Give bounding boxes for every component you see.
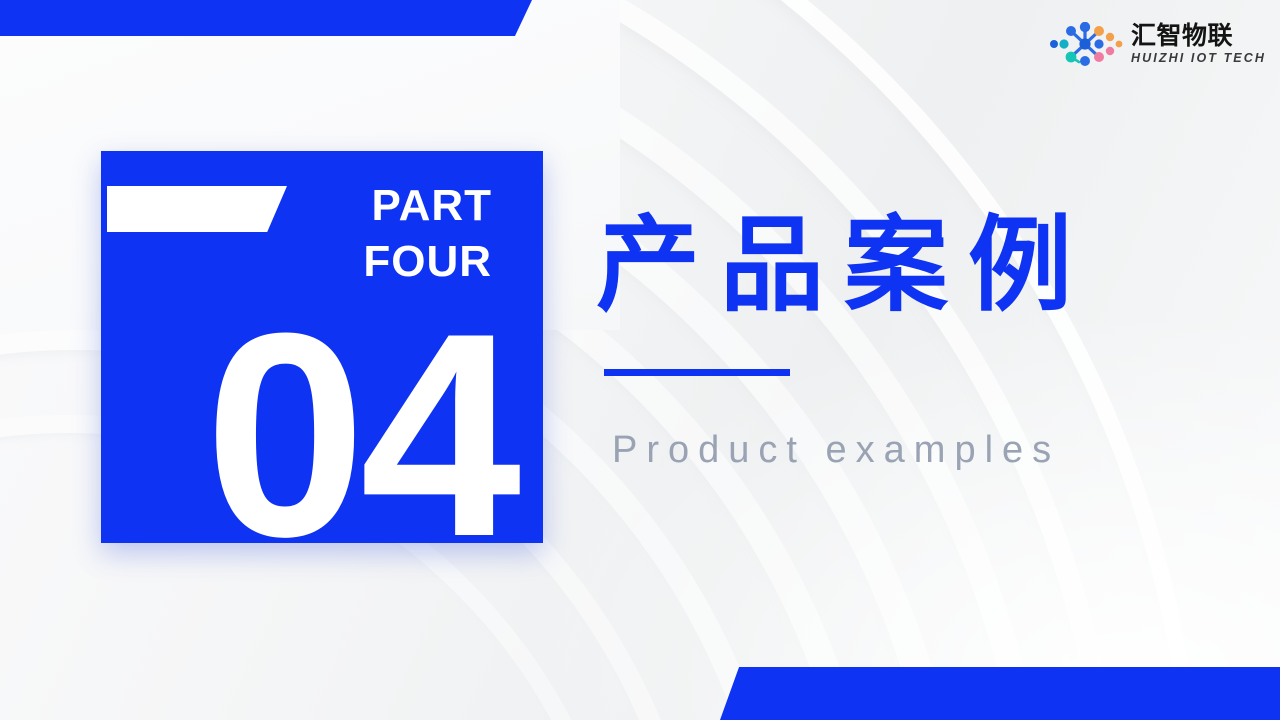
brand-logo: 汇智物联 HUIZHI IOT TECH (1046, 22, 1266, 66)
brand-logo-text: 汇智物联 HUIZHI IOT TECH (1131, 23, 1266, 65)
slide-canvas: PART FOUR 04 产品案例 Product examples (0, 0, 1280, 720)
bottom-right-blue-banner (720, 667, 1280, 720)
page-subtitle: Product examples (612, 424, 1060, 476)
section-number: 04 (180, 310, 540, 560)
brand-name-cn: 汇智物联 (1131, 23, 1266, 48)
top-left-blue-banner (0, 0, 532, 36)
molecule-network-icon (1046, 22, 1124, 66)
background-highlight-bottom-right (520, 300, 1280, 720)
brand-name-en: HUIZHI IOT TECH (1131, 52, 1266, 65)
page-title: 产品案例 (596, 206, 1092, 324)
title-underline-rule (604, 369, 790, 376)
part-label-line1: PART (260, 178, 492, 234)
